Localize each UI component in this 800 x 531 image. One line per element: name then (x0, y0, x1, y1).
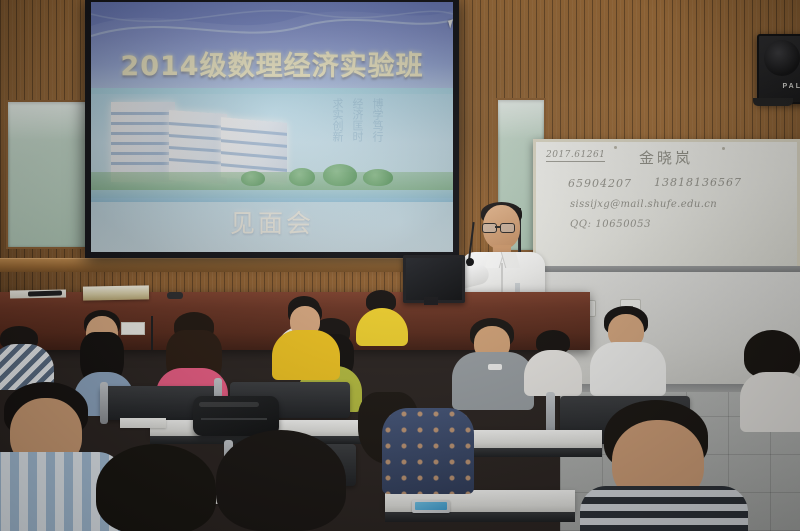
eyeglasses-bridge (495, 226, 500, 228)
tree-icon (363, 169, 393, 186)
microphone-head-icon (466, 258, 474, 266)
eyeglasses-icon (482, 223, 497, 233)
tree-icon (323, 164, 357, 186)
slide-title: 2014级数理经济实验班 (91, 44, 453, 83)
desk-frame (385, 512, 575, 522)
phone-screen (415, 502, 447, 510)
projection-screen: 2014级数理经济实验班 (85, 0, 459, 258)
paper-sheet (120, 418, 166, 428)
pa-speaker: PAL (757, 34, 800, 104)
slide-subtitle: 见面会 (91, 204, 453, 240)
pa-speaker-mount (753, 98, 793, 106)
glass-gloss (498, 100, 544, 139)
speaker-cone-icon (764, 40, 800, 76)
backpack-highlight (199, 402, 259, 407)
whiteboard-name: 金晓岚 (639, 147, 693, 168)
backpack-zipper (201, 418, 267, 420)
whiteboard-email: sissijxg@mail.shufe.edu.cn (570, 199, 717, 210)
whiteboard: 2017.61261 金晓岚 65904207 13818136567 siss… (533, 139, 800, 272)
eyeglasses-icon (500, 223, 515, 233)
presentation-slide: 2014级数理经济实验班 (91, 2, 453, 252)
podium-cable (151, 316, 153, 350)
watermark-column-3: 博学笃行 (371, 98, 384, 142)
podium-label-card (121, 322, 145, 335)
seat-arm (100, 382, 108, 424)
monitor-stand (424, 297, 438, 305)
tree-icon (241, 171, 265, 186)
pa-speaker-label: PAL (783, 83, 800, 90)
shirt-print (488, 364, 502, 370)
classroom-photo: PAL 2014级数理经济实验班 (0, 0, 800, 531)
campus-water (91, 190, 453, 202)
monitor-screen (406, 258, 462, 300)
slide-campus-photo: 求实创新 经济匡时 博学笃行 (91, 94, 453, 202)
whiteboard-mobile-phone: 13818136567 (654, 176, 742, 189)
whiteboard-office-phone: 65904207 (568, 177, 632, 190)
microphone-base (167, 292, 183, 299)
building-block-a (111, 102, 175, 182)
whiteboard-qq: QQ: 10650053 (570, 219, 651, 230)
slide-watermark-text: 求实创新 经济匡时 博学笃行 (331, 98, 384, 142)
tree-icon (289, 168, 315, 186)
podium-paper-stack (83, 285, 149, 300)
watermark-column-1: 求实创新 (331, 98, 344, 142)
slide-wave-decoration (91, 2, 453, 50)
whiteboard-date: 2017.61261 (546, 150, 605, 162)
watermark-column-2: 经济匡时 (351, 98, 364, 142)
podium-monitor (403, 255, 465, 303)
smartphone[interactable] (412, 500, 450, 513)
whiteboard-surface: 2017.61261 金晓岚 65904207 13818136567 siss… (536, 142, 797, 269)
backpack (193, 396, 279, 436)
